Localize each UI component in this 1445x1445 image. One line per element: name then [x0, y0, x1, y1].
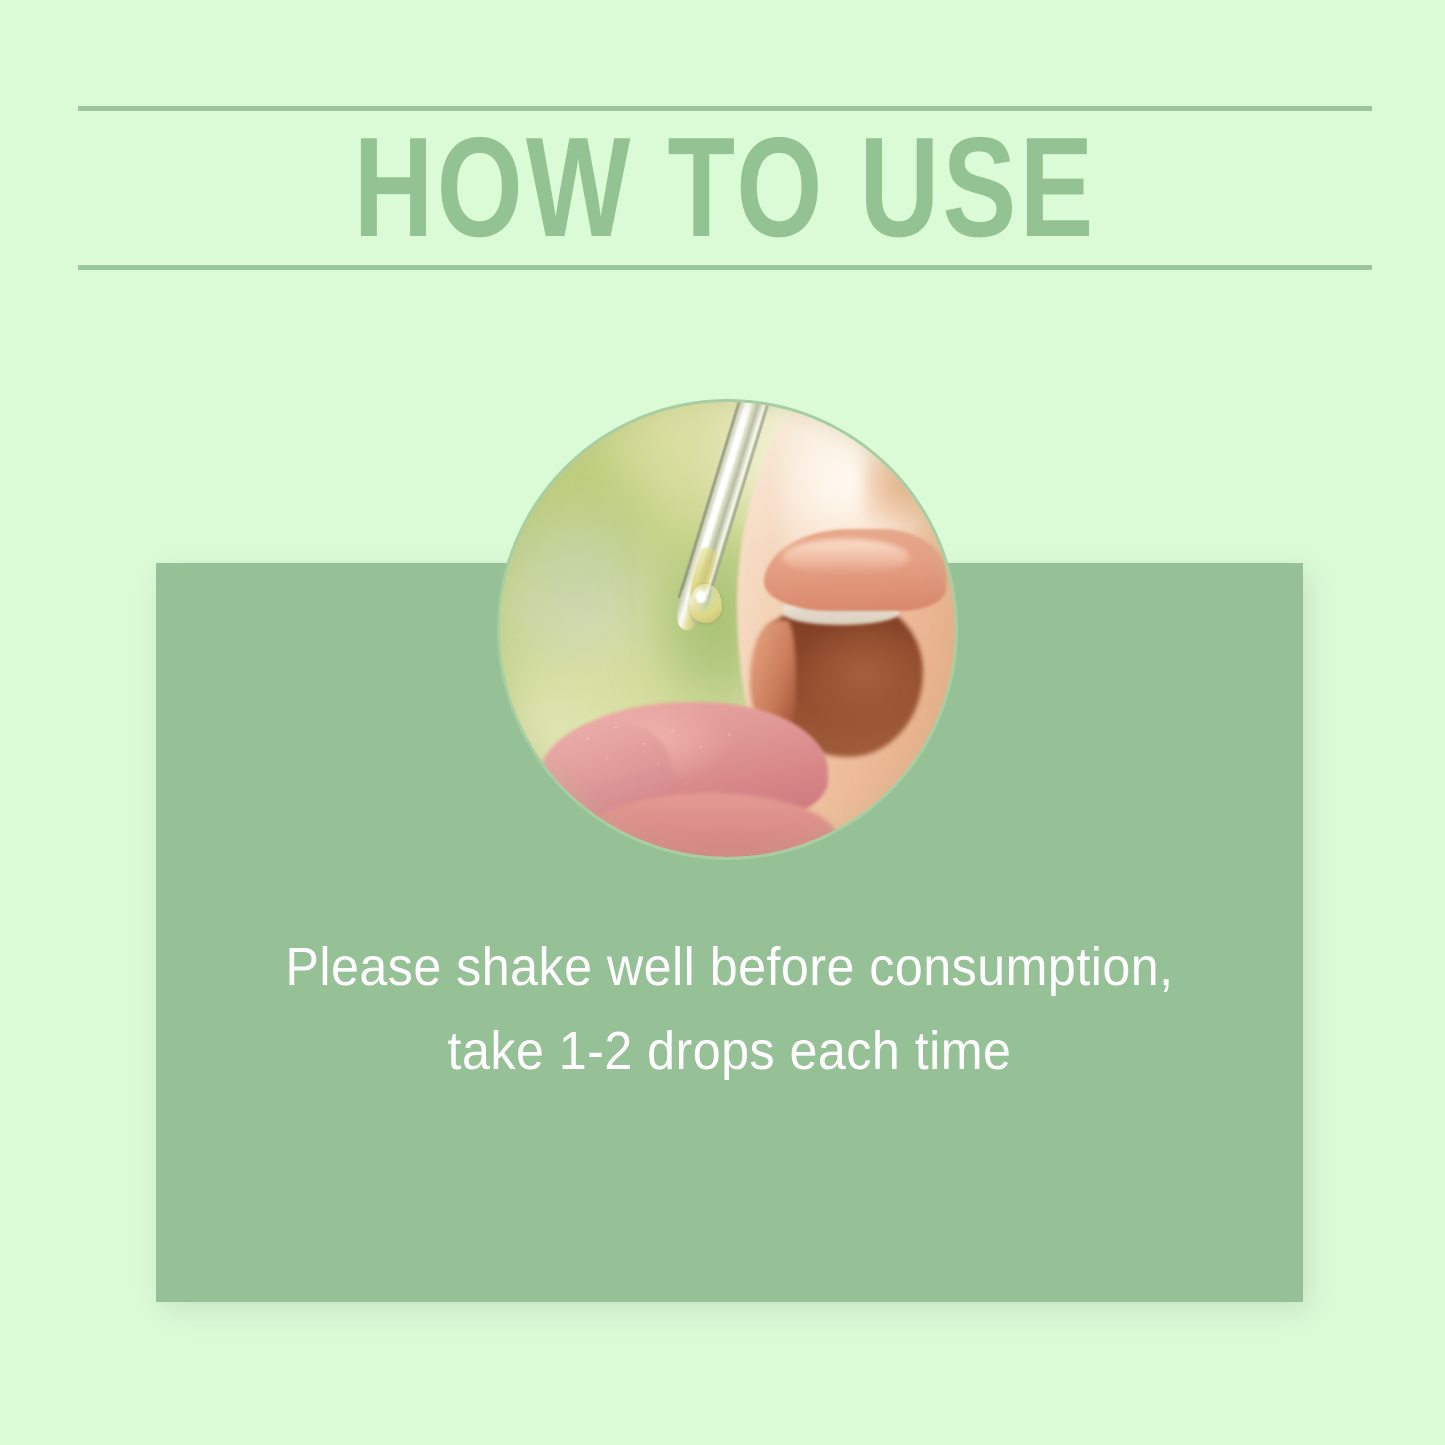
oil-droplet: [689, 584, 722, 623]
caption-block: Please shake well before consumption, ta…: [196, 925, 1263, 1093]
caption-line-2: take 1-2 drops each time: [196, 1009, 1263, 1093]
how-to-use-poster: HOW TO USE Please shake well before cons…: [0, 0, 1445, 1445]
header: HOW TO USE: [78, 106, 1372, 272]
tongue-texture: [564, 711, 801, 802]
oil-droplet-highlight: [696, 591, 706, 603]
page-title: HOW TO USE: [220, 112, 1229, 264]
upper-lip-highlight: [782, 539, 909, 575]
usage-photo-inner: [500, 402, 955, 857]
usage-photo-circle: [500, 402, 955, 857]
caption-line-1: Please shake well before consumption,: [196, 925, 1263, 1009]
nose-shadow: [864, 429, 955, 520]
title-rule-bottom: [78, 265, 1372, 270]
bokeh-blob: [509, 520, 646, 657]
